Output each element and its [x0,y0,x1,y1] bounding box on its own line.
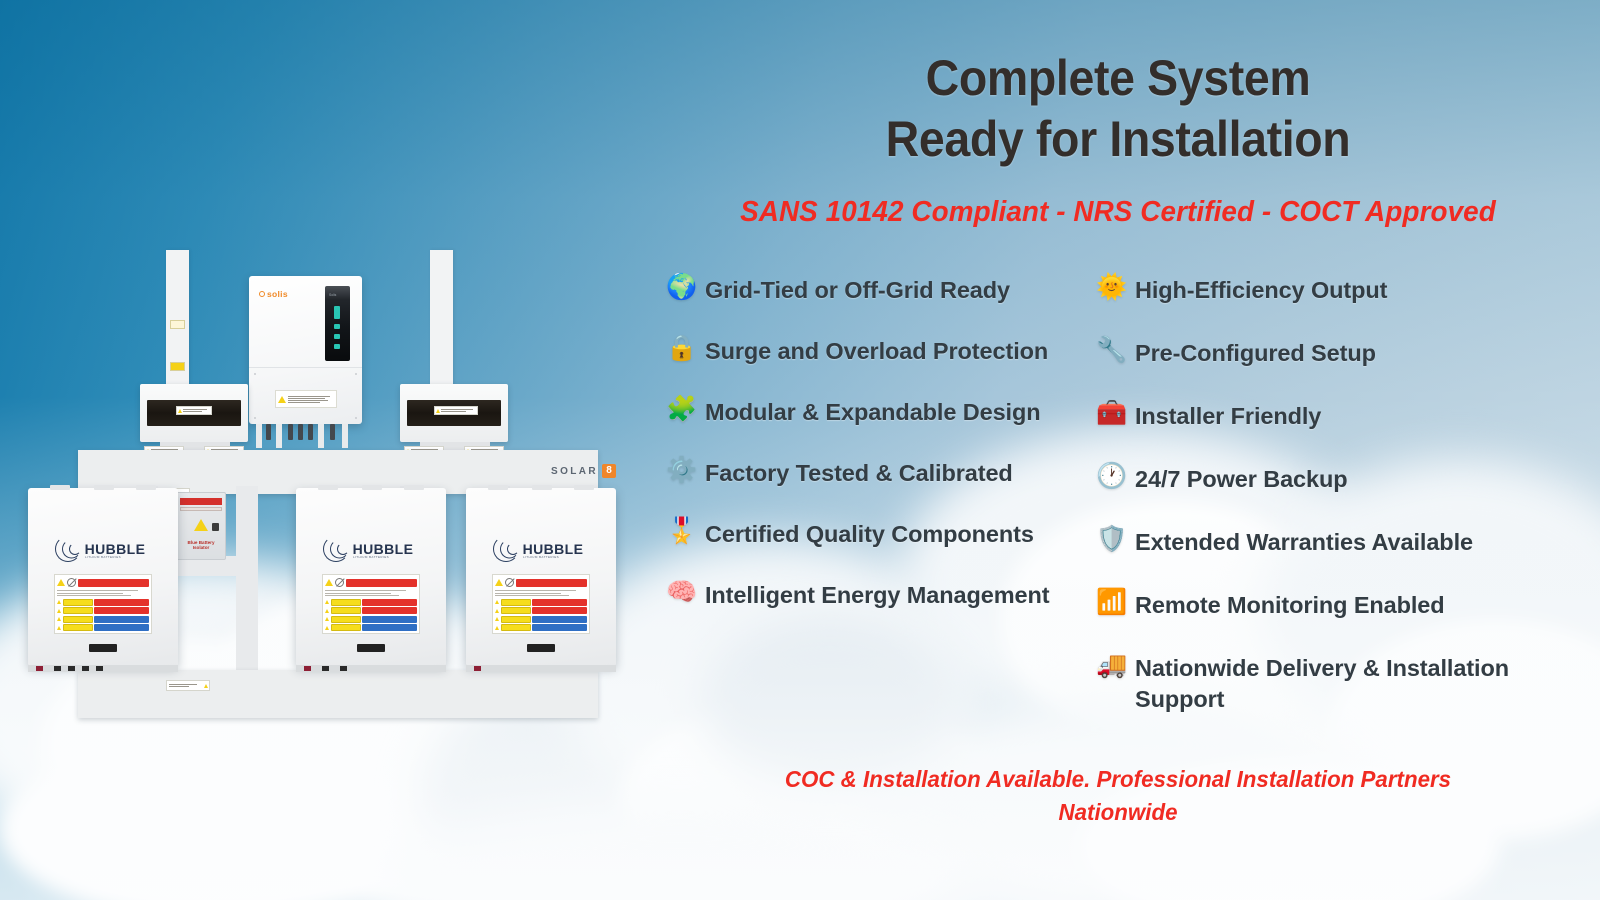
inverter-display-panel: Solis [325,286,350,361]
feature-item-pre-configured: 🔧 Pre-Configured Setup [1096,338,1520,369]
warning-triangle-icon [495,579,503,586]
hubble-logo: HUBBLE LITHIUM BATTERIES [28,536,178,562]
cable-trunking-left [166,250,189,402]
clock-icon: 🕐 [1096,464,1126,489]
no-smoking-icon [505,578,514,587]
feature-column-right: 🌞 High-Efficiency Output 🔧 Pre-Configure… [1088,275,1520,747]
feature-item-installer-friendly: 🧰 Installer Friendly [1096,401,1520,432]
feature-label: High-Efficiency Output [1135,275,1387,306]
medal-icon: 🎖️ [666,519,696,544]
hubble-logo-subtext: LITHIUM BATTERIES [85,555,121,559]
battery-model-badge [89,644,117,652]
headline-line-1: Complete System [670,48,1567,109]
feature-item-power-backup: 🕐 24/7 Power Backup [1096,464,1520,495]
hubble-logo-subtext: LITHIUM BATTERIES [523,555,559,559]
headline-line-2: Ready for Installation [670,109,1567,170]
controller-text-line1: Blue Battery [187,540,214,545]
inverter-led-4 [334,344,340,349]
frame-post [236,486,258,676]
warning-triangle-icon [194,519,208,531]
label-red-banner [346,579,417,587]
feature-item-extended-warranty: 🛡️ Extended Warranties Available [1096,527,1520,558]
solar8-logo-text: SOLAR [551,466,598,477]
no-smoking-icon [335,578,344,587]
lock-icon: 🔒 [666,336,696,361]
solis-inverter: solis Solis [249,276,362,424]
feature-label: Nationwide Delivery & Installation Suppo… [1135,653,1520,715]
globe-icon: 🌍 [666,275,696,300]
warning-triangle-icon [436,409,440,413]
hubble-battery-unit: HUBBLE LITHIUM BATTERIES [466,488,616,666]
warning-triangle-icon [325,579,333,586]
feature-label: Remote Monitoring Enabled [1135,590,1445,621]
battery-base [466,665,616,672]
controller-lock-icon [212,523,219,531]
feature-label: Factory Tested & Calibrated [705,458,1013,489]
solar8-logo: SOLAR 8 [551,464,616,478]
no-smoking-icon [67,578,76,587]
solis-logo-text: solis [267,289,288,299]
battery-model-badge [357,644,385,652]
battery-base [296,665,446,672]
feature-label: Pre-Configured Setup [1135,338,1376,369]
controller-label-strip [180,507,222,511]
marketing-copy-panel: Complete System Ready for Installation S… [636,0,1600,900]
rail-warning-label-bottom [166,680,210,691]
solar8-logo-badge: 8 [602,464,616,478]
inverter-display-brand: Solis [329,293,336,297]
feature-item-energy-management: 🧠 Intelligent Energy Management [666,580,1080,611]
feature-item-factory-tested: ⚙️ Factory Tested & Calibrated [666,458,1080,489]
distribution-board-left [140,384,248,442]
feature-item-nationwide-delivery: 🚚 Nationwide Delivery & Installation Sup… [1096,653,1520,715]
inverter-led-2 [334,324,340,329]
hero-banner: solis Solis [0,0,1600,900]
feature-item-high-efficiency: 🌞 High-Efficiency Output [1096,275,1520,306]
battery-isolator-controller: Blue Battery Isolator [176,492,226,560]
battery-warning-label [492,574,590,634]
signal-icon: 📶 [1096,590,1126,615]
feature-label: Modular & Expandable Design [705,397,1041,428]
solis-logo: solis [259,289,288,299]
warning-triangle-icon [57,579,65,586]
shield-icon: 🛡️ [1096,527,1126,552]
feature-item-surge-protection: 🔒 Surge and Overload Protection [666,336,1080,367]
feature-label: Surge and Overload Protection [705,336,1048,367]
certification-subheadline: SANS 10142 Compliant - NRS Certified - C… [655,196,1580,229]
inverter-warning-label [275,390,337,408]
warning-triangle-icon [204,684,208,688]
db-warning-label-inner [176,406,212,415]
truck-icon: 🚚 [1096,653,1126,678]
inverter-lower-body [249,368,362,424]
hubble-arc-icon [499,536,521,562]
battery-base [28,665,178,672]
toolbox-icon: 🧰 [1096,401,1126,426]
hubble-logo: HUBBLE LITHIUM BATTERIES [296,536,446,562]
feature-item-grid-tied: 🌍 Grid-Tied or Off-Grid Ready [666,275,1080,306]
feature-label: Intelligent Energy Management [705,580,1049,611]
db-warning-label-inner [434,406,478,415]
hubble-logo-subtext: LITHIUM BATTERIES [353,555,389,559]
controller-red-banner [180,498,222,505]
page-title: Complete System Ready for Installation [670,48,1567,170]
inverter-led-3 [334,334,340,339]
inverter-cable-glands [254,424,358,450]
mounting-rail-bottom [78,670,598,718]
solis-logo-mark [259,291,265,297]
feature-item-certified-components: 🎖️ Certified Quality Components [666,519,1080,550]
battery-warning-label [54,574,152,634]
feature-column-left: 🌍 Grid-Tied or Off-Grid Ready 🔒 Surge an… [656,275,1080,747]
wrench-icon: 🔧 [1096,338,1126,363]
inverter-upper-body: solis Solis [249,276,362,368]
controller-text: Blue Battery Isolator [177,540,225,551]
hubble-battery-unit: HUBBLE LITHIUM BATTERIES [28,488,178,666]
feature-label: 24/7 Power Backup [1135,464,1348,495]
hubble-arc-icon [61,536,83,562]
hubble-arc-icon [329,536,351,562]
hubble-logo: HUBBLE LITHIUM BATTERIES [466,536,616,562]
label-red-banner [78,579,149,587]
brain-icon: 🧠 [666,580,696,605]
puzzle-icon: 🧩 [666,397,696,422]
warning-text-lines [288,396,334,403]
feature-label: Extended Warranties Available [1135,527,1473,558]
product-photo-solar-system: solis Solis [18,238,638,738]
hubble-battery-unit: HUBBLE LITHIUM BATTERIES [296,488,446,666]
battery-warning-label [322,574,420,634]
controller-text-line2: Isolator [193,545,210,550]
cable-trunking-right [430,250,453,402]
feature-item-modular-design: 🧩 Modular & Expandable Design [666,397,1080,428]
inverter-led-1 [334,306,340,319]
warning-triangle-icon [178,409,182,413]
installation-footer-note: COC & Installation Available. Profession… [650,763,1585,830]
label-red-banner [516,579,587,587]
feature-list: 🌍 Grid-Tied or Off-Grid Ready 🔒 Surge an… [656,275,1600,747]
distribution-board-right [400,384,508,442]
gear-icon: ⚙️ [666,458,696,483]
sun-icon: 🌞 [1096,275,1126,300]
warning-triangle-icon [278,396,286,403]
feature-label: Grid-Tied or Off-Grid Ready [705,275,1010,306]
battery-model-badge [527,644,555,652]
feature-label: Installer Friendly [1135,401,1321,432]
feature-label: Certified Quality Components [705,519,1034,550]
feature-item-remote-monitoring: 📶 Remote Monitoring Enabled [1096,590,1520,621]
